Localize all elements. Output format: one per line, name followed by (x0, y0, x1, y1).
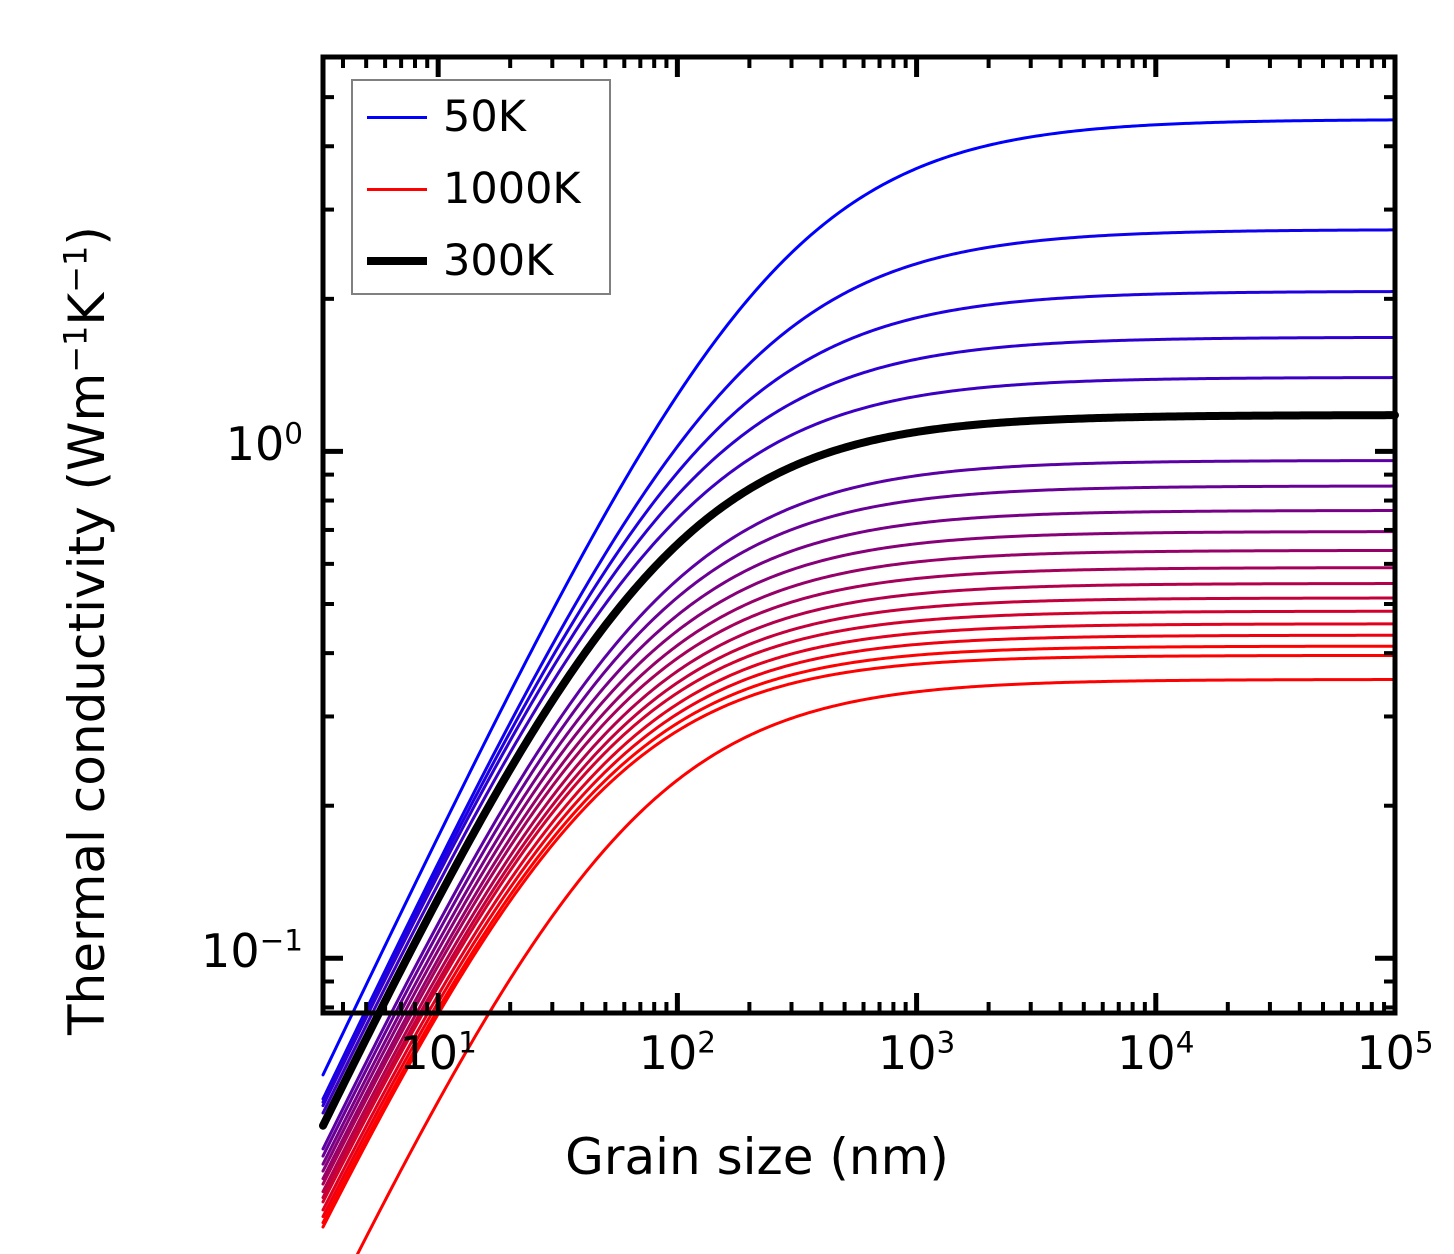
y-axis-title-close: ) (58, 226, 116, 246)
y-axis-title-base: Thermal conductivity (Wm (58, 373, 116, 1035)
x-tick-label-0: 101 (348, 1026, 528, 1080)
x-tick-label-2: 103 (827, 1026, 1007, 1080)
y-axis-title: Thermal conductivity (Wm−1K−1) (58, 226, 116, 1035)
x-axis-title: Grain size (nm) (0, 1128, 1454, 1186)
legend-line-swatch-50k (367, 116, 427, 119)
legend-line-swatch-1000k (367, 188, 427, 191)
x-tick-label-3: 104 (1066, 1026, 1246, 1080)
curve-200k (323, 337, 1395, 1105)
legend-label-1000k: 1000K (443, 168, 581, 211)
y-axis-title-sup1: −1 (56, 326, 94, 373)
legend-entry-2: 300K (353, 225, 609, 297)
legend-box[interactable]: 50K 1000K 300K (351, 79, 611, 295)
legend-entry-1: 1000K (353, 153, 609, 225)
curve-100k (323, 230, 1395, 1099)
legend-entry-0: 50K (353, 81, 609, 153)
y-axis-title-sup2: −1 (56, 246, 94, 293)
x-tick-label-4: 105 (1305, 1026, 1454, 1080)
figure-canvas: 101102103104105 10010−1 50K 1000K 300K G… (0, 0, 1454, 1254)
x-tick-label-1: 102 (587, 1026, 767, 1080)
y-axis-title-mid: K (58, 293, 116, 326)
legend-line-swatch-300k (367, 257, 427, 265)
legend-label-300k: 300K (443, 240, 553, 283)
y-tick-label-1: 10−1 (3, 924, 303, 978)
legend-label-50k: 50K (443, 96, 526, 139)
curve-800k (323, 624, 1395, 1210)
y-tick-label-0: 100 (3, 417, 303, 471)
